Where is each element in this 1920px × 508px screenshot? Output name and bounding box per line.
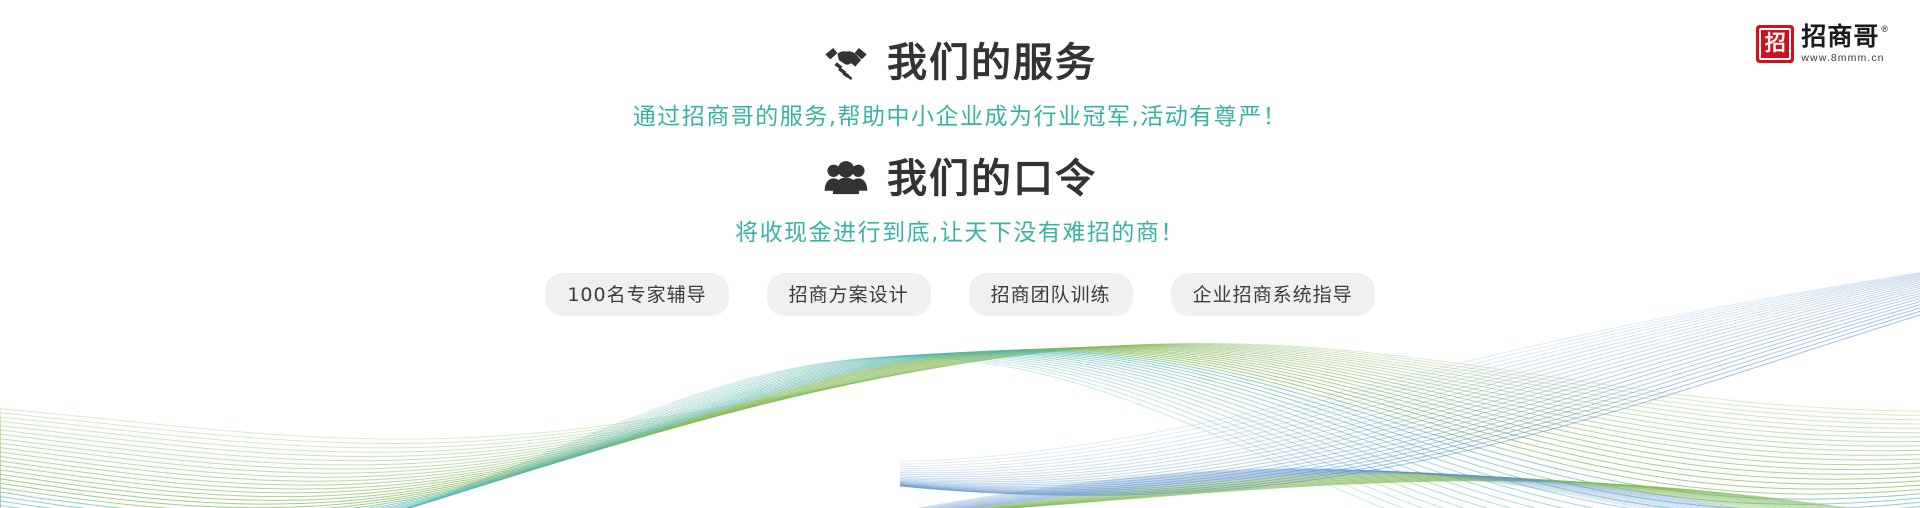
service-tag[interactable]: 100名专家辅导 [545, 273, 728, 316]
section-1-subtitle: 通过招商哥的服务,帮助中小企业成为行业冠军,活动有尊严！ [0, 104, 1920, 132]
section-1-heading: 我们的服务 [0, 40, 1920, 86]
handshake-icon [823, 42, 869, 84]
service-tag-list: 100名专家辅导 招商方案设计 招商团队训练 企业招商系统指导 [0, 273, 1920, 316]
service-tag[interactable]: 招商团队训练 [969, 273, 1133, 316]
section-2-heading: 我们的口令 [0, 156, 1920, 202]
promo-banner: 招 招商哥 ® www.8mmm.cn [0, 0, 1920, 508]
section-2-heading-text: 我们的口令 [887, 156, 1097, 202]
people-icon [823, 158, 869, 200]
registered-trademark-icon: ® [1881, 25, 1888, 34]
banner-content: 我们的服务 通过招商哥的服务,帮助中小企业成为行业冠军,活动有尊严！ 我们的口令… [0, 40, 1920, 316]
section-2-subtitle: 将收现金进行到底,让天下没有难招的商！ [0, 220, 1920, 248]
section-1-heading-text: 我们的服务 [887, 40, 1097, 86]
service-tag[interactable]: 招商方案设计 [767, 273, 931, 316]
logo-mark-glyph: 招 [1765, 33, 1786, 54]
service-tag[interactable]: 企业招商系统指导 [1171, 273, 1375, 316]
